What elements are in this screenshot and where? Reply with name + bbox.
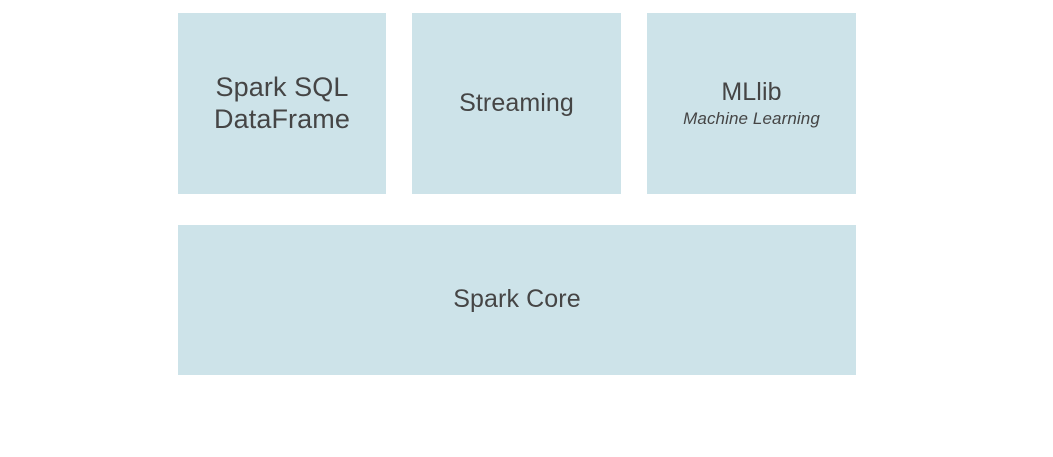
block-spark-sql[interactable]: Spark SQL DataFrame	[178, 13, 386, 194]
block-spark-core[interactable]: Spark Core	[178, 225, 856, 375]
block-mllib-subtitle: Machine Learning	[683, 109, 820, 129]
block-spark-sql-title-line1: Spark SQL	[216, 72, 349, 104]
spark-stack-diagram: Spark SQL DataFrame Streaming MLlib Mach…	[0, 0, 1053, 457]
block-streaming[interactable]: Streaming	[412, 13, 621, 194]
block-streaming-title: Streaming	[459, 89, 574, 119]
block-spark-sql-title-line2: DataFrame	[214, 104, 350, 136]
block-spark-core-title: Spark Core	[453, 285, 580, 315]
block-mllib[interactable]: MLlib Machine Learning	[647, 13, 856, 194]
block-mllib-title: MLlib	[721, 78, 781, 108]
